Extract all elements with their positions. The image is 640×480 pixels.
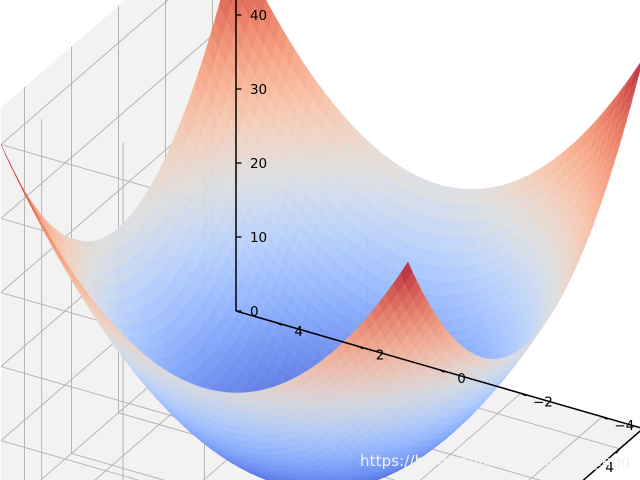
surface-plot-3d: −4−2024−4−202401020304050 [0,0,640,480]
svg-text:30: 30 [250,82,267,98]
watermark: https://blog.csdn.net/a_hui_tai_lang [360,452,631,470]
svg-text:−2: −2 [533,394,553,410]
svg-text:4: 4 [294,324,303,340]
svg-text:40: 40 [250,8,267,24]
svg-text:0: 0 [457,371,466,387]
svg-text:0: 0 [250,304,259,320]
figure-canvas: −4−2024−4−202401020304050 https://blog.c… [0,0,640,480]
svg-text:20: 20 [250,156,267,172]
svg-text:10: 10 [250,230,267,246]
svg-text:2: 2 [376,347,385,363]
svg-text:−4: −4 [614,418,634,434]
